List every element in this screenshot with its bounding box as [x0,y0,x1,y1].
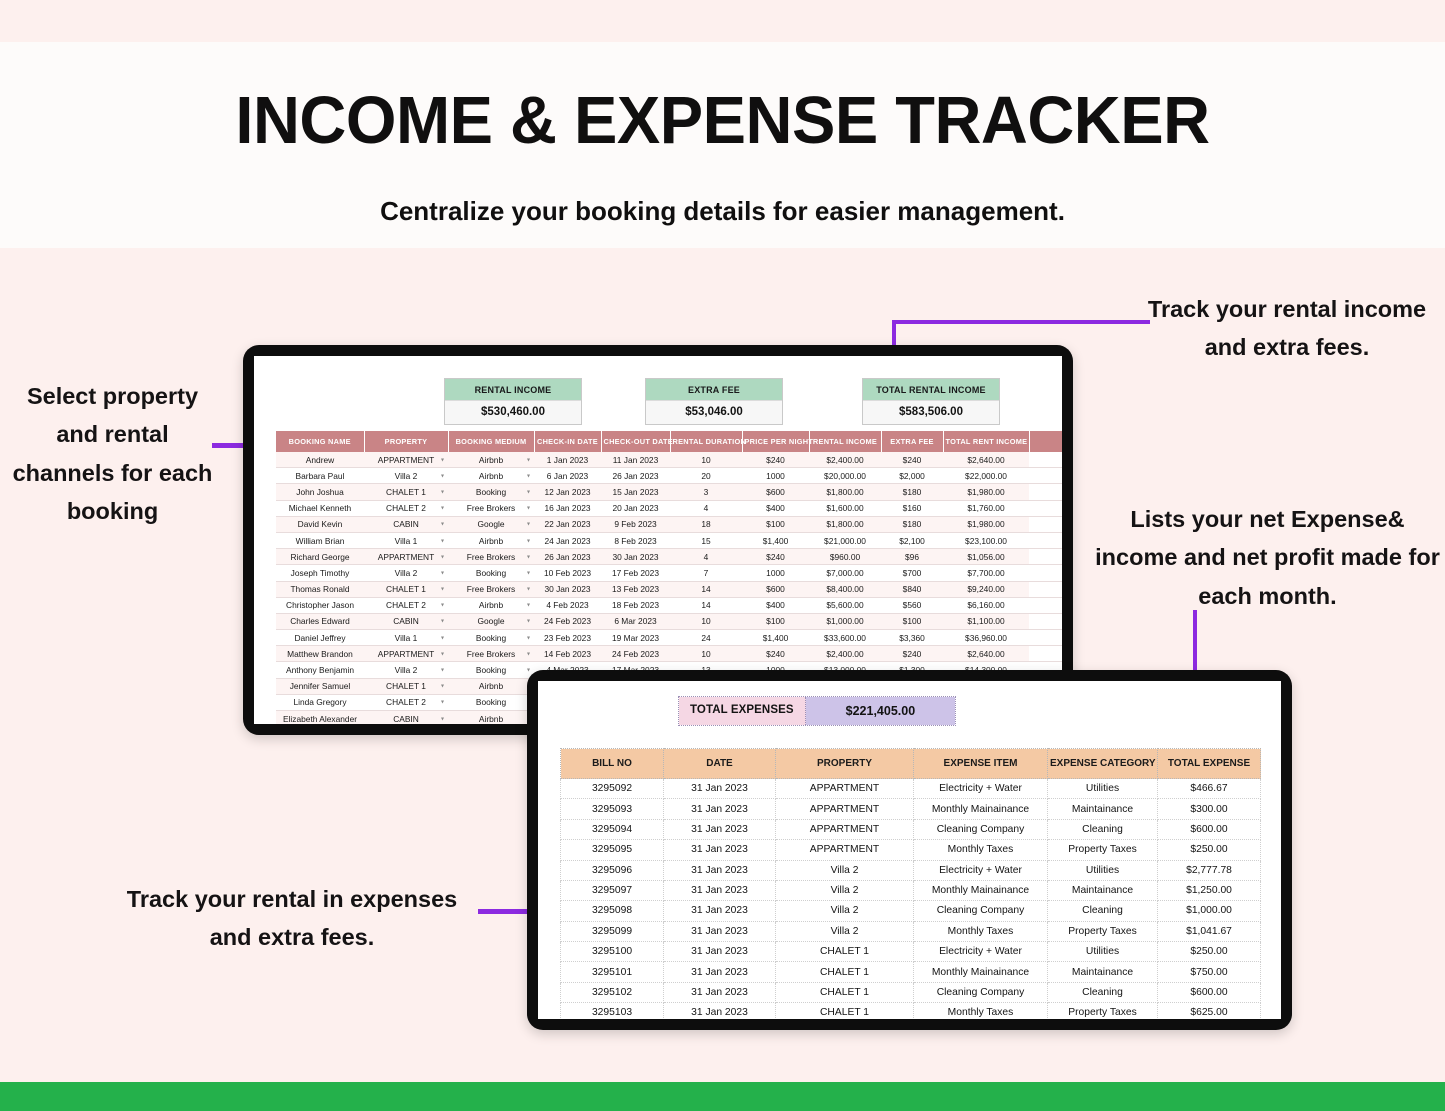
income-cell[interactable]: $100 [881,613,943,629]
property-dropdown-cell[interactable]: APPARTMENT▾ [364,549,448,565]
income-cell[interactable]: Elizabeth Alexander [276,711,364,725]
property-dropdown-cell[interactable]: CABIN▾ [364,613,448,629]
income-cell-spare[interactable] [1029,500,1062,516]
income-cell-spare[interactable] [1029,613,1062,629]
income-col-header: BOOKING NAME [276,431,364,452]
income-cell[interactable]: $400 [742,597,809,613]
callout-track-expenses: Track your rental in expenses and extra … [112,880,472,957]
booking-medium-dropdown-cell[interactable]: Airbnb▾ [448,597,534,613]
income-cell[interactable]: $2,000 [881,468,943,484]
income-cell[interactable]: 1000 [742,468,809,484]
expense-cell[interactable]: 3295100 [561,942,664,962]
chevron-down-icon[interactable]: ▾ [441,634,444,641]
income-cell[interactable]: $33,600.00 [809,630,881,646]
expense-table-header-row: BILL NODATEPROPERTYEXPENSE ITEMEXPENSE C… [561,749,1261,779]
booking-medium-dropdown-cell[interactable]: Booking▾ [448,565,534,581]
income-cell-spare[interactable] [1029,516,1062,532]
income-cell[interactable]: $180 [881,484,943,500]
table-row[interactable]: 329510131 Jan 2023CHALET 1Monthly Mainai… [561,962,1261,982]
expense-cell[interactable]: Electricity + Water [914,779,1048,799]
expense-cell[interactable]: Monthly Mainainance [914,962,1048,982]
booking-medium-dropdown-cell[interactable]: Airbnb▾ [448,678,534,694]
expense-cell[interactable]: 31 Jan 2023 [664,819,776,839]
income-cell[interactable]: $22,000.00 [943,468,1029,484]
income-cell[interactable]: 15 [670,532,742,548]
income-cell[interactable]: Richard George [276,549,364,565]
income-cell[interactable]: $240 [881,452,943,468]
chevron-down-icon[interactable]: ▾ [527,618,530,625]
income-cell[interactable]: $100 [742,516,809,532]
table-row[interactable]: Michael KennethCHALET 2▾Free Brokers▾16 … [276,500,1062,516]
income-cell[interactable]: 15 Jan 2023 [601,484,670,500]
income-cell[interactable]: Michael Kenneth [276,500,364,516]
income-cell-spare[interactable] [1029,597,1062,613]
income-cell[interactable]: $1,980.00 [943,516,1029,532]
income-cell[interactable]: 24 [670,630,742,646]
expense-cell[interactable]: Villa 2 [776,921,914,941]
income-cell[interactable]: $1,800.00 [809,516,881,532]
property-dropdown-cell[interactable]: CHALET 2▾ [364,597,448,613]
income-cell[interactable]: 17 Feb 2023 [601,565,670,581]
income-cell[interactable]: $2,640.00 [943,452,1029,468]
expense-cell[interactable]: Maintainance [1048,962,1158,982]
expense-cell[interactable]: Cleaning [1048,901,1158,921]
expense-cell[interactable]: 31 Jan 2023 [664,962,776,982]
income-cell-spare[interactable] [1029,468,1062,484]
income-cell[interactable]: Jennifer Samuel [276,678,364,694]
expense-cell[interactable]: 3295097 [561,880,664,900]
property-dropdown-cell[interactable]: CABIN▾ [364,711,448,725]
page-subtitle: Centralize your booking details for easi… [0,196,1445,227]
income-cell[interactable]: 11 Jan 2023 [601,452,670,468]
expense-cell[interactable]: 3295103 [561,1003,664,1019]
booking-medium-dropdown-cell[interactable]: Airbnb▾ [448,532,534,548]
table-row[interactable]: 329509231 Jan 2023APPARTMENTElectricity … [561,779,1261,799]
income-cell[interactable]: 14 Feb 2023 [534,646,601,662]
table-row[interactable]: 329509731 Jan 2023Villa 2Monthly Mainain… [561,880,1261,900]
income-cell[interactable]: 26 Jan 2023 [534,549,601,565]
table-row[interactable]: 329510031 Jan 2023CHALET 1Electricity + … [561,942,1261,962]
income-col-header: EXTRA FEE [881,431,943,452]
expense-cell[interactable]: 3295099 [561,921,664,941]
expense-cell[interactable]: 31 Jan 2023 [664,840,776,860]
income-cell[interactable]: 3 [670,484,742,500]
chevron-down-icon[interactable]: ▾ [441,521,444,528]
kpi-total-rental-income: TOTAL RENTAL INCOME $583,506.00 [862,378,1000,425]
income-cell[interactable]: 24 Jan 2023 [534,532,601,548]
expense-cell[interactable]: Villa 2 [776,901,914,921]
income-cell[interactable]: $400 [742,500,809,516]
chevron-down-icon[interactable]: ▾ [441,683,444,690]
expense-cell[interactable]: APPARTMENT [776,840,914,860]
expense-cell[interactable]: Monthly Taxes [914,921,1048,941]
income-cell[interactable]: 23 Feb 2023 [534,630,601,646]
expense-cell[interactable]: Property Taxes [1048,840,1158,860]
chevron-down-icon[interactable]: ▾ [527,602,530,609]
chevron-down-icon[interactable]: ▾ [527,667,530,674]
income-cell[interactable]: Christopher Jason [276,597,364,613]
expense-cell[interactable]: 31 Jan 2023 [664,982,776,1002]
income-cell[interactable]: $240 [742,549,809,565]
income-cell[interactable]: Daniel Jeffrey [276,630,364,646]
expense-amount-cell[interactable]: $1,041.67 [1158,921,1261,941]
table-row[interactable]: 329509331 Jan 2023APPARTMENTMonthly Main… [561,799,1261,819]
table-row[interactable]: 329510331 Jan 2023CHALET 1Monthly TaxesP… [561,1003,1261,1019]
income-cell[interactable]: Andrew [276,452,364,468]
income-cell[interactable]: $840 [881,581,943,597]
income-cell[interactable]: William Brian [276,532,364,548]
expense-cell[interactable]: Utilities [1048,860,1158,880]
chevron-down-icon[interactable]: ▾ [527,521,530,528]
income-cell[interactable]: $6,160.00 [943,597,1029,613]
table-row[interactable]: Barbara PaulVilla 2▾Airbnb▾6 Jan 202326 … [276,468,1062,484]
booking-medium-dropdown-cell[interactable]: Airbnb▾ [448,711,534,725]
income-cell[interactable]: $240 [742,452,809,468]
income-cell[interactable]: $1,400 [742,532,809,548]
income-cell[interactable]: $1,760.00 [943,500,1029,516]
income-cell[interactable]: 30 Jan 2023 [601,549,670,565]
income-cell[interactable]: 10 [670,452,742,468]
income-cell[interactable]: $240 [881,646,943,662]
expense-amount-cell[interactable]: $466.67 [1158,779,1261,799]
expense-cell[interactable]: Monthly Taxes [914,840,1048,860]
chevron-down-icon[interactable]: ▾ [441,715,444,722]
income-cell[interactable]: 20 [670,468,742,484]
income-cell[interactable]: David Kevin [276,516,364,532]
income-cell[interactable]: Linda Gregory [276,694,364,710]
income-cell[interactable]: Anthony Benjamin [276,662,364,678]
expense-col-header: DATE [664,749,776,779]
income-cell[interactable]: $160 [881,500,943,516]
income-cell[interactable]: Joseph Timothy [276,565,364,581]
expense-amount-cell[interactable]: $600.00 [1158,819,1261,839]
income-cell[interactable]: $9,240.00 [943,581,1029,597]
chevron-down-icon[interactable]: ▾ [441,505,444,512]
chevron-down-icon[interactable]: ▾ [527,634,530,641]
table-row[interactable]: David KevinCABIN▾Google▾22 Jan 20239 Feb… [276,516,1062,532]
chevron-down-icon[interactable]: ▾ [527,650,530,657]
income-cell[interactable]: Matthew Brandon [276,646,364,662]
expense-cell[interactable]: Electricity + Water [914,860,1048,880]
expense-cell[interactable]: Property Taxes [1048,921,1158,941]
chevron-down-icon[interactable]: ▾ [441,699,444,706]
expense-amount-cell[interactable]: $2,777.78 [1158,860,1261,880]
booking-medium-dropdown-cell[interactable]: Free Brokers▾ [448,646,534,662]
income-cell[interactable]: 10 Feb 2023 [534,565,601,581]
expense-cell[interactable]: Utilities [1048,942,1158,962]
property-dropdown-cell[interactable]: APPARTMENT▾ [364,452,448,468]
income-cell[interactable]: $240 [742,646,809,662]
income-cell[interactable]: $1,100.00 [943,613,1029,629]
chevron-down-icon[interactable]: ▾ [441,456,444,463]
expense-cell[interactable]: 31 Jan 2023 [664,942,776,962]
expense-cell[interactable]: Cleaning Company [914,819,1048,839]
expense-cell[interactable]: Cleaning [1048,982,1158,1002]
table-row[interactable]: Daniel JeffreyVilla 1▾Booking▾23 Feb 202… [276,630,1062,646]
expense-cell[interactable]: 3295101 [561,962,664,982]
income-cell[interactable]: $100 [742,613,809,629]
expense-cell[interactable]: CHALET 1 [776,962,914,982]
expense-cell[interactable]: CHALET 1 [776,942,914,962]
table-row[interactable]: 329509831 Jan 2023Villa 2Cleaning Compan… [561,901,1261,921]
table-row[interactable]: Joseph TimothyVilla 2▾Booking▾10 Feb 202… [276,565,1062,581]
income-cell[interactable]: 20 Jan 2023 [601,500,670,516]
income-col-header: CHECK-IN DATE [534,431,601,452]
income-cell[interactable]: 13 Feb 2023 [601,581,670,597]
income-cell[interactable]: 1000 [742,565,809,581]
expense-cell[interactable]: 31 Jan 2023 [664,779,776,799]
expense-amount-cell[interactable]: $1,000.00 [1158,901,1261,921]
expense-cell[interactable]: APPARTMENT [776,779,914,799]
booking-medium-dropdown-cell[interactable]: Google▾ [448,613,534,629]
income-cell[interactable]: 24 Feb 2023 [601,646,670,662]
table-row[interactable]: 329509631 Jan 2023Villa 2Electricity + W… [561,860,1261,880]
expense-cell[interactable]: CHALET 1 [776,1003,914,1019]
expense-table[interactable]: BILL NODATEPROPERTYEXPENSE ITEMEXPENSE C… [560,748,1261,1019]
expense-cell[interactable]: 3295098 [561,901,664,921]
property-dropdown-cell[interactable]: APPARTMENT▾ [364,646,448,662]
income-cell[interactable]: $8,400.00 [809,581,881,597]
table-row[interactable]: John JoshuaCHALET 1▾Booking▾12 Jan 20231… [276,484,1062,500]
table-row[interactable]: Richard GeorgeAPPARTMENT▾Free Brokers▾26… [276,549,1062,565]
expense-cell[interactable]: Villa 2 [776,880,914,900]
income-cell[interactable]: 22 Jan 2023 [534,516,601,532]
chevron-down-icon[interactable]: ▾ [441,472,444,479]
booking-medium-dropdown-cell[interactable]: Booking▾ [448,484,534,500]
booking-medium-dropdown-cell[interactable]: Booking▾ [448,662,534,678]
expense-cell[interactable]: Monthly Taxes [914,1003,1048,1019]
expense-cell[interactable]: Villa 2 [776,860,914,880]
expense-amount-cell[interactable]: $600.00 [1158,982,1261,1002]
property-dropdown-cell[interactable]: CHALET 1▾ [364,678,448,694]
income-cell[interactable]: 19 Mar 2023 [601,630,670,646]
income-cell[interactable]: 7 [670,565,742,581]
chevron-down-icon[interactable]: ▾ [441,586,444,593]
chevron-down-icon[interactable]: ▾ [527,505,530,512]
income-cell[interactable]: $700 [881,565,943,581]
booking-medium-dropdown-cell[interactable]: Free Brokers▾ [448,500,534,516]
expense-cell[interactable]: 31 Jan 2023 [664,880,776,900]
kpi-value: $583,506.00 [863,400,999,424]
expense-cell[interactable]: 3295092 [561,779,664,799]
expense-amount-cell[interactable]: $250.00 [1158,942,1261,962]
income-cell[interactable]: 18 [670,516,742,532]
expense-cell[interactable]: 3295102 [561,982,664,1002]
income-cell[interactable]: 18 Feb 2023 [601,597,670,613]
income-cell-spare[interactable] [1029,549,1062,565]
income-cell[interactable]: $1,800.00 [809,484,881,500]
expense-cell[interactable]: Cleaning Company [914,901,1048,921]
income-cell[interactable]: $560 [881,597,943,613]
expense-amount-cell[interactable]: $300.00 [1158,799,1261,819]
property-dropdown-cell[interactable]: CHALET 1▾ [364,581,448,597]
income-cell-spare[interactable] [1029,565,1062,581]
income-cell[interactable]: $2,100 [881,532,943,548]
expense-cell[interactable]: Monthly Mainainance [914,799,1048,819]
expense-cell[interactable]: 31 Jan 2023 [664,860,776,880]
booking-medium-dropdown-cell[interactable]: Airbnb▾ [448,452,534,468]
table-row[interactable]: 329509531 Jan 2023APPARTMENTMonthly Taxe… [561,840,1261,860]
income-cell-spare[interactable] [1029,630,1062,646]
property-dropdown-cell[interactable]: Villa 2▾ [364,468,448,484]
table-row[interactable]: Matthew BrandonAPPARTMENT▾Free Brokers▾1… [276,646,1062,662]
income-cell[interactable]: $2,400.00 [809,646,881,662]
income-cell[interactable]: Charles Edward [276,613,364,629]
income-col-header: TOTAL RENT INCOME [943,431,1029,452]
income-cell[interactable]: $96 [881,549,943,565]
property-dropdown-cell[interactable]: Villa 2▾ [364,565,448,581]
expense-cell[interactable]: Utilities [1048,779,1158,799]
booking-medium-dropdown-cell[interactable]: Free Brokers▾ [448,581,534,597]
table-row[interactable]: William BrianVilla 1▾Airbnb▾24 Jan 20238… [276,532,1062,548]
income-cell[interactable]: $2,400.00 [809,452,881,468]
expense-amount-cell[interactable]: $750.00 [1158,962,1261,982]
chevron-down-icon[interactable]: ▾ [527,456,530,463]
expense-cell[interactable]: 31 Jan 2023 [664,799,776,819]
income-cell[interactable]: $2,640.00 [943,646,1029,662]
expense-cell[interactable]: 3295096 [561,860,664,880]
booking-medium-dropdown-cell[interactable]: Booking▾ [448,630,534,646]
table-row[interactable]: AndrewAPPARTMENT▾Airbnb▾1 Jan 202311 Jan… [276,452,1062,468]
expense-table-body[interactable]: 329509231 Jan 2023APPARTMENTElectricity … [561,779,1261,1020]
income-cell[interactable]: 8 Feb 2023 [601,532,670,548]
table-row[interactable]: 329509931 Jan 2023Villa 2Monthly TaxesPr… [561,921,1261,941]
expense-cell[interactable]: Property Taxes [1048,1003,1158,1019]
income-cell[interactable]: $1,980.00 [943,484,1029,500]
income-cell[interactable]: Thomas Ronald [276,581,364,597]
expense-amount-cell[interactable]: $1,250.00 [1158,880,1261,900]
table-row[interactable]: Thomas RonaldCHALET 1▾Free Brokers▾30 Ja… [276,581,1062,597]
income-cell[interactable]: $3,360 [881,630,943,646]
expense-col-header: PROPERTY [776,749,914,779]
expense-cell[interactable]: 3295093 [561,799,664,819]
booking-medium-dropdown-cell[interactable]: Free Brokers▾ [448,549,534,565]
expense-cell[interactable]: Electricity + Water [914,942,1048,962]
chevron-down-icon[interactable]: ▾ [441,650,444,657]
expense-cell[interactable]: 31 Jan 2023 [664,921,776,941]
income-cell[interactable]: $1,056.00 [943,549,1029,565]
table-row[interactable]: 329509431 Jan 2023APPARTMENTCleaning Com… [561,819,1261,839]
income-cell[interactable]: 6 Jan 2023 [534,468,601,484]
callout-net-expense: Lists your net Expense& income and net p… [1095,500,1440,615]
income-cell[interactable]: $7,000.00 [809,565,881,581]
property-dropdown-cell[interactable]: Villa 2▾ [364,662,448,678]
income-cell[interactable]: $1,600.00 [809,500,881,516]
income-cell[interactable]: $600 [742,484,809,500]
income-cell[interactable]: $1,400 [742,630,809,646]
income-cell[interactable]: $36,960.00 [943,630,1029,646]
income-cell-spare[interactable] [1029,581,1062,597]
income-cell[interactable]: $600 [742,581,809,597]
chevron-down-icon[interactable]: ▾ [527,537,530,544]
chevron-down-icon[interactable]: ▾ [527,553,530,560]
expense-cell[interactable]: APPARTMENT [776,819,914,839]
income-cell[interactable]: 16 Jan 2023 [534,500,601,516]
income-cell[interactable]: $20,000.00 [809,468,881,484]
property-dropdown-cell[interactable]: Villa 1▾ [364,630,448,646]
income-cell[interactable]: 24 Feb 2023 [534,613,601,629]
income-cell[interactable]: $23,100.00 [943,532,1029,548]
chevron-down-icon[interactable]: ▾ [527,586,530,593]
expense-cell[interactable]: 31 Jan 2023 [664,901,776,921]
income-cell[interactable]: John Joshua [276,484,364,500]
expense-cell[interactable]: Cleaning [1048,819,1158,839]
chevron-down-icon[interactable]: ▾ [527,488,530,495]
kpi-label: TOTAL RENTAL INCOME [863,379,999,400]
income-cell[interactable]: $7,700.00 [943,565,1029,581]
chevron-down-icon[interactable]: ▾ [441,488,444,495]
chevron-down-icon[interactable]: ▾ [527,569,530,576]
kpi-extra-fee: EXTRA FEE $53,046.00 [645,378,783,425]
table-row[interactable]: Christopher JasonCHALET 2▾Airbnb▾4 Feb 2… [276,597,1062,613]
income-cell-spare[interactable] [1029,532,1062,548]
expense-amount-cell[interactable]: $625.00 [1158,1003,1261,1019]
income-cell[interactable]: 10 [670,646,742,662]
table-row[interactable]: Charles EdwardCABIN▾Google▾24 Feb 20236 … [276,613,1062,629]
income-cell[interactable]: 12 Jan 2023 [534,484,601,500]
chevron-down-icon[interactable]: ▾ [441,667,444,674]
income-cell-spare[interactable] [1029,452,1062,468]
chevron-down-icon[interactable]: ▾ [441,602,444,609]
expense-cell[interactable]: Maintainance [1048,799,1158,819]
chevron-down-icon[interactable]: ▾ [527,472,530,479]
expense-cell[interactable]: Maintainance [1048,880,1158,900]
income-cell[interactable]: 6 Mar 2023 [601,613,670,629]
expense-cell[interactable]: Cleaning Company [914,982,1048,1002]
income-cell[interactable]: 4 [670,549,742,565]
property-dropdown-cell[interactable]: CHALET 2▾ [364,500,448,516]
table-row[interactable]: 329510231 Jan 2023CHALET 1Cleaning Compa… [561,982,1261,1002]
income-cell[interactable]: $1,000.00 [809,613,881,629]
expense-cell[interactable]: 3295094 [561,819,664,839]
income-cell[interactable]: $21,000.00 [809,532,881,548]
expense-cell[interactable]: CHALET 1 [776,982,914,1002]
income-cell[interactable]: $960.00 [809,549,881,565]
expense-cell[interactable]: APPARTMENT [776,799,914,819]
expense-amount-cell[interactable]: $250.00 [1158,840,1261,860]
property-dropdown-cell[interactable]: CHALET 1▾ [364,484,448,500]
income-cell[interactable]: 14 [670,581,742,597]
income-cell[interactable]: 1 Jan 2023 [534,452,601,468]
expense-cell[interactable]: 3295095 [561,840,664,860]
income-cell[interactable]: 10 [670,613,742,629]
expense-cell[interactable]: 31 Jan 2023 [664,1003,776,1019]
total-expenses-label: TOTAL EXPENSES [679,697,806,725]
income-cell[interactable]: Barbara Paul [276,468,364,484]
income-cell[interactable]: 4 Feb 2023 [534,597,601,613]
chevron-down-icon[interactable]: ▾ [441,553,444,560]
income-cell[interactable]: 4 [670,500,742,516]
booking-medium-dropdown-cell[interactable]: Airbnb▾ [448,468,534,484]
chevron-down-icon[interactable]: ▾ [441,618,444,625]
income-cell[interactable]: $180 [881,516,943,532]
income-cell[interactable]: $5,600.00 [809,597,881,613]
income-cell[interactable]: 14 [670,597,742,613]
chevron-down-icon[interactable]: ▾ [441,569,444,576]
income-cell[interactable]: 26 Jan 2023 [601,468,670,484]
income-cell-spare[interactable] [1029,646,1062,662]
booking-medium-dropdown-cell[interactable]: Google▾ [448,516,534,532]
income-cell[interactable]: 9 Feb 2023 [601,516,670,532]
income-cell-spare[interactable] [1029,484,1062,500]
property-dropdown-cell[interactable]: CABIN▾ [364,516,448,532]
expense-cell[interactable]: Monthly Mainainance [914,880,1048,900]
property-dropdown-cell[interactable]: Villa 1▾ [364,532,448,548]
property-dropdown-cell[interactable]: CHALET 2▾ [364,694,448,710]
booking-medium-dropdown-cell[interactable]: Booking▾ [448,694,534,710]
chevron-down-icon[interactable]: ▾ [441,537,444,544]
income-cell[interactable]: 30 Jan 2023 [534,581,601,597]
